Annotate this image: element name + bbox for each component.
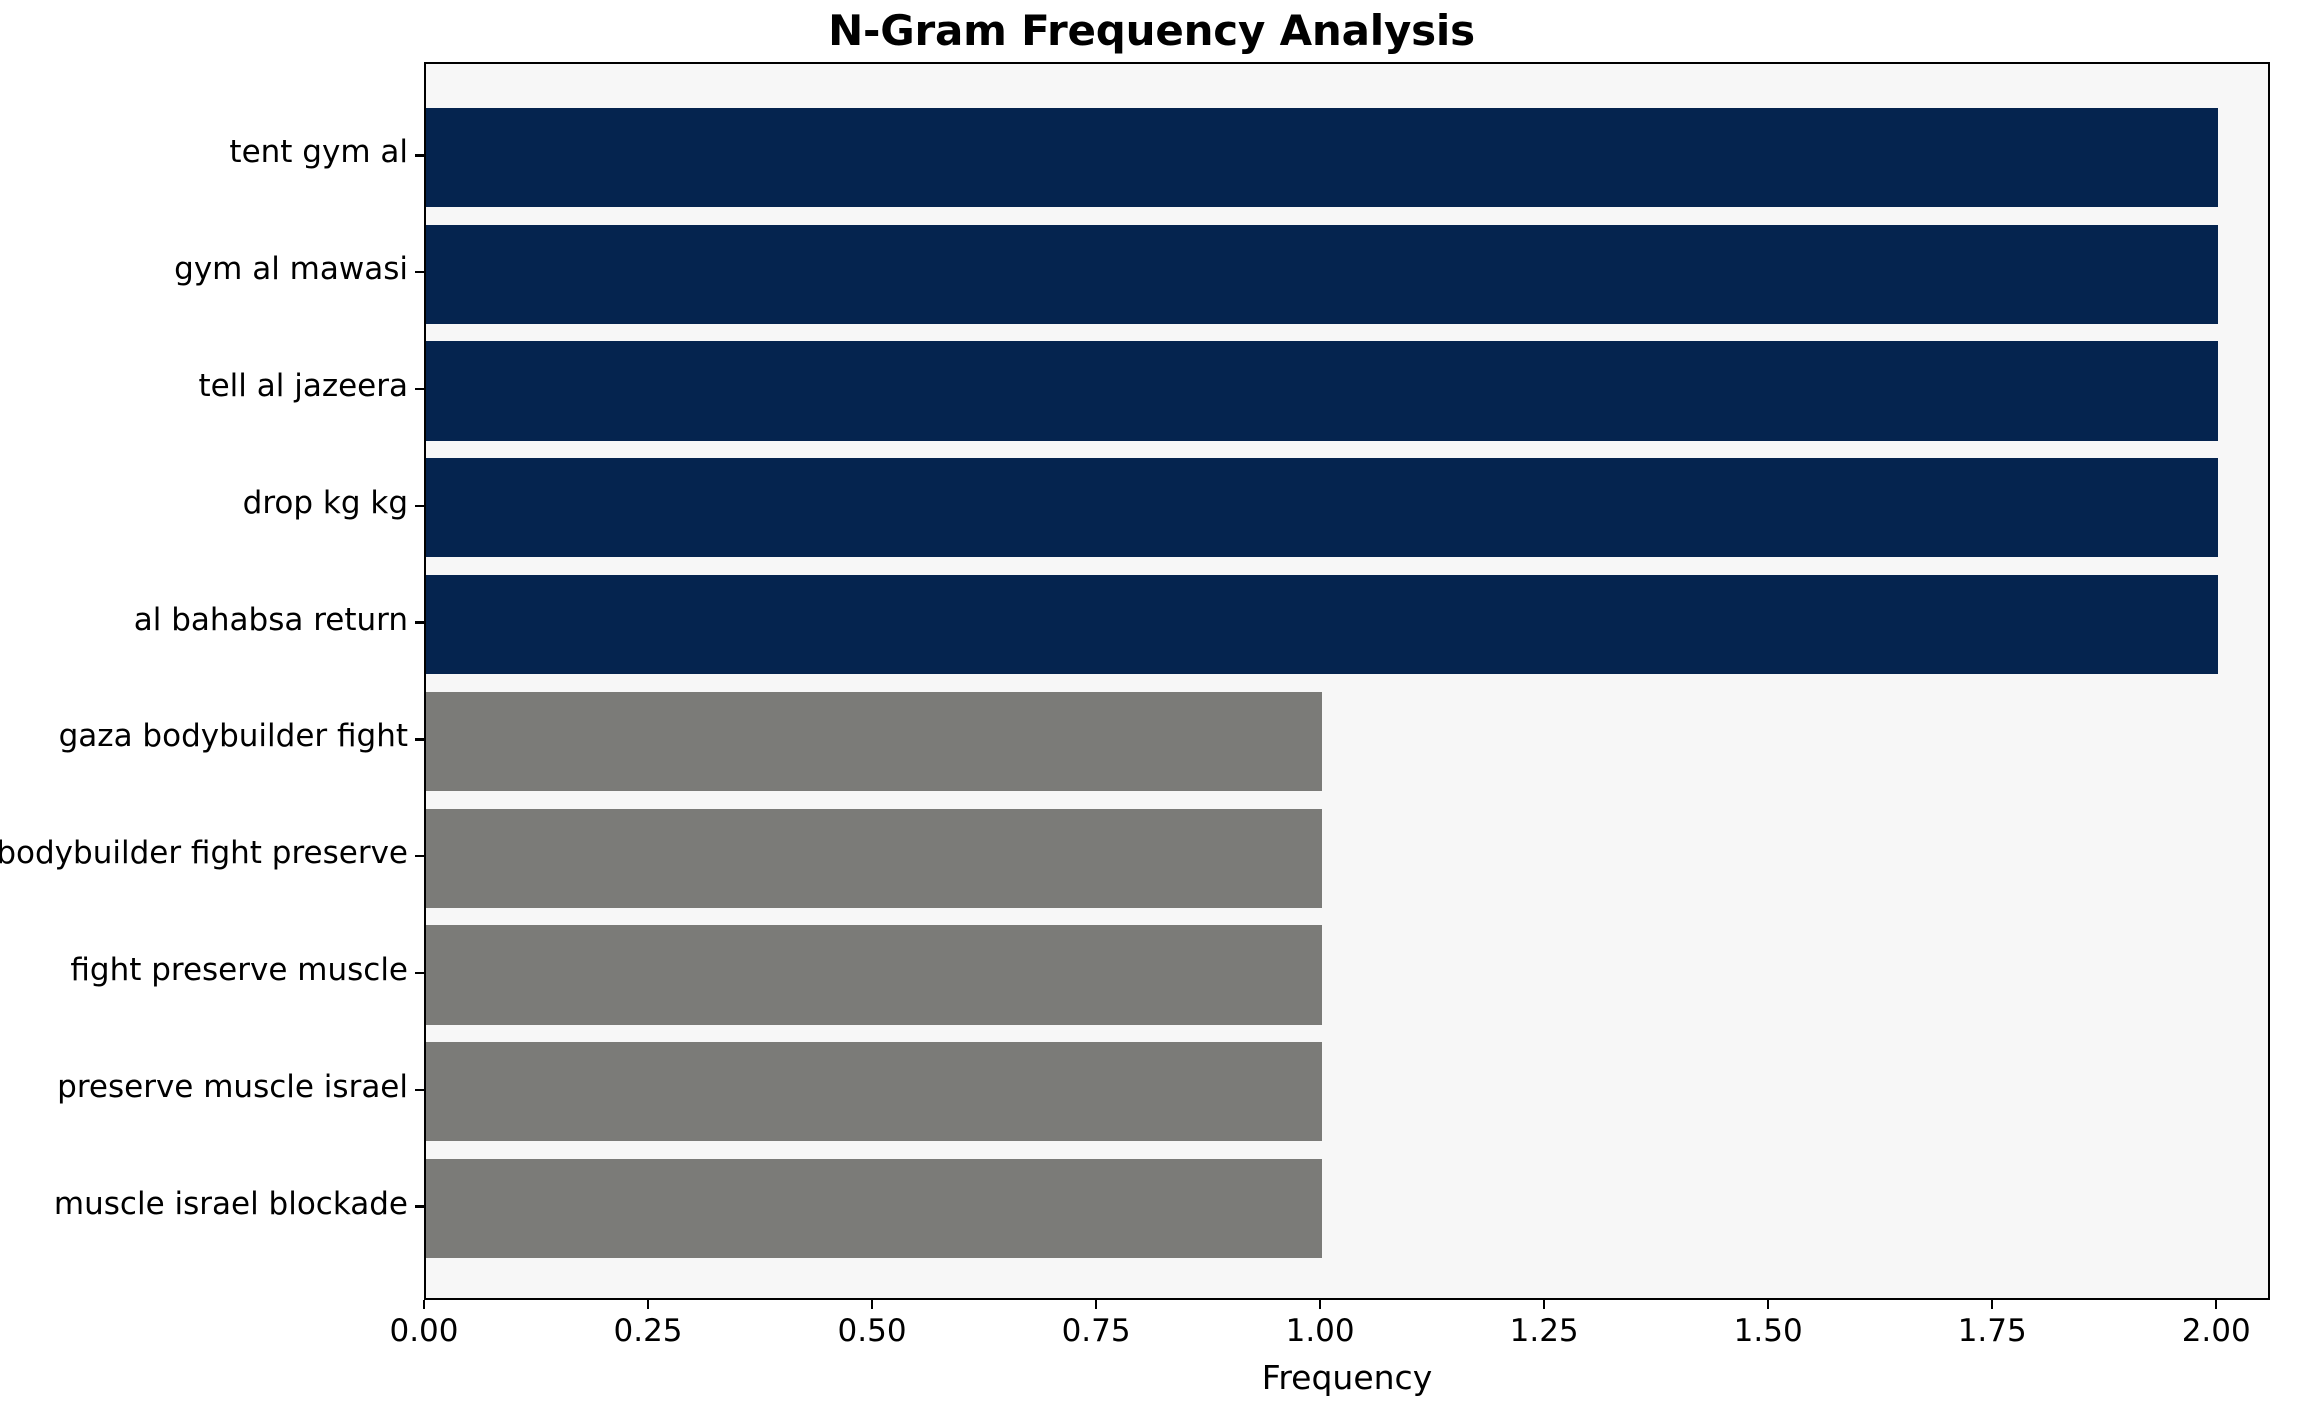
y-tick-label-2: tell al jazeera [198, 371, 408, 402]
x-tick-mark [1991, 1300, 1993, 1309]
bar-drop-kg-kg[interactable] [426, 458, 2218, 557]
x-tick-label-6: 1.50 [1734, 1316, 1803, 1347]
x-tick-mark [2215, 1300, 2217, 1309]
bar-row [426, 225, 2268, 324]
y-tick-mark [415, 621, 424, 623]
bar-row [426, 1042, 2268, 1141]
x-tick-label-5: 1.25 [1510, 1316, 1579, 1347]
figure-canvas: N-Gram Frequency Analysis tent gym algym… [0, 0, 2303, 1414]
bar-al-bahabsa-return[interactable] [426, 575, 2218, 674]
y-tick-label-4: al bahabsa return [134, 605, 408, 636]
x-tick-mark [647, 1300, 649, 1309]
x-tick-label-8: 2.00 [2182, 1316, 2251, 1347]
bar-gym-al-mawasi[interactable] [426, 225, 2218, 324]
bar-row [426, 341, 2268, 440]
x-tick-label-1: 0.25 [614, 1316, 683, 1347]
bar-tent-gym-al[interactable] [426, 108, 2218, 207]
y-tick-label-7: fight preserve muscle [70, 955, 408, 986]
y-tick-mark [415, 1205, 424, 1207]
y-tick-mark [415, 1089, 424, 1091]
y-tick-label-0: tent gym al [229, 137, 408, 168]
y-tick-label-8: preserve muscle israel [57, 1072, 408, 1103]
x-tick-mark [1319, 1300, 1321, 1309]
plot-area [424, 62, 2270, 1300]
bar-row [426, 925, 2268, 1024]
x-axis-label: Frequency [424, 1358, 2270, 1397]
x-tick-mark [1095, 1300, 1097, 1309]
x-tick-label-2: 0.50 [838, 1316, 907, 1347]
x-tick-mark [871, 1300, 873, 1309]
y-tick-mark [415, 271, 424, 273]
y-tick-mark [415, 154, 424, 156]
bar-row [426, 692, 2268, 791]
bar-preserve-muscle-israel[interactable] [426, 1042, 1322, 1141]
bar-muscle-israel-blockade[interactable] [426, 1159, 1322, 1258]
x-tick-label-0: 0.00 [389, 1316, 458, 1347]
y-tick-label-1: gym al mawasi [174, 254, 408, 285]
bar-tell-al-jazeera[interactable] [426, 341, 2218, 440]
bar-fight-preserve-muscle[interactable] [426, 925, 1322, 1024]
bar-bodybuilder-fight-preserve[interactable] [426, 809, 1322, 908]
y-tick-mark [415, 388, 424, 390]
bar-row [426, 575, 2268, 674]
y-tick-label-5: gaza bodybuilder fight [59, 721, 408, 752]
x-tick-label-4: 1.00 [1286, 1316, 1355, 1347]
bar-row [426, 458, 2268, 557]
y-tick-mark [415, 855, 424, 857]
bar-row [426, 1159, 2268, 1258]
y-tick-mark [415, 505, 424, 507]
y-tick-label-6: bodybuilder fight preserve [0, 838, 408, 869]
x-tick-mark [423, 1300, 425, 1309]
bar-gaza-bodybuilder-fight[interactable] [426, 692, 1322, 791]
x-tick-mark [1543, 1300, 1545, 1309]
y-tick-mark [415, 972, 424, 974]
bars-layer [426, 64, 2268, 1298]
x-tick-label-3: 0.75 [1062, 1316, 1131, 1347]
bar-row [426, 108, 2268, 207]
x-tick-label-7: 1.75 [1958, 1316, 2027, 1347]
y-tick-label-9: muscle israel blockade [54, 1189, 408, 1220]
chart-title: N-Gram Frequency Analysis [0, 6, 2303, 55]
x-tick-mark [1767, 1300, 1769, 1309]
bar-row [426, 809, 2268, 908]
y-tick-mark [415, 738, 424, 740]
y-tick-label-3: drop kg kg [243, 488, 408, 519]
